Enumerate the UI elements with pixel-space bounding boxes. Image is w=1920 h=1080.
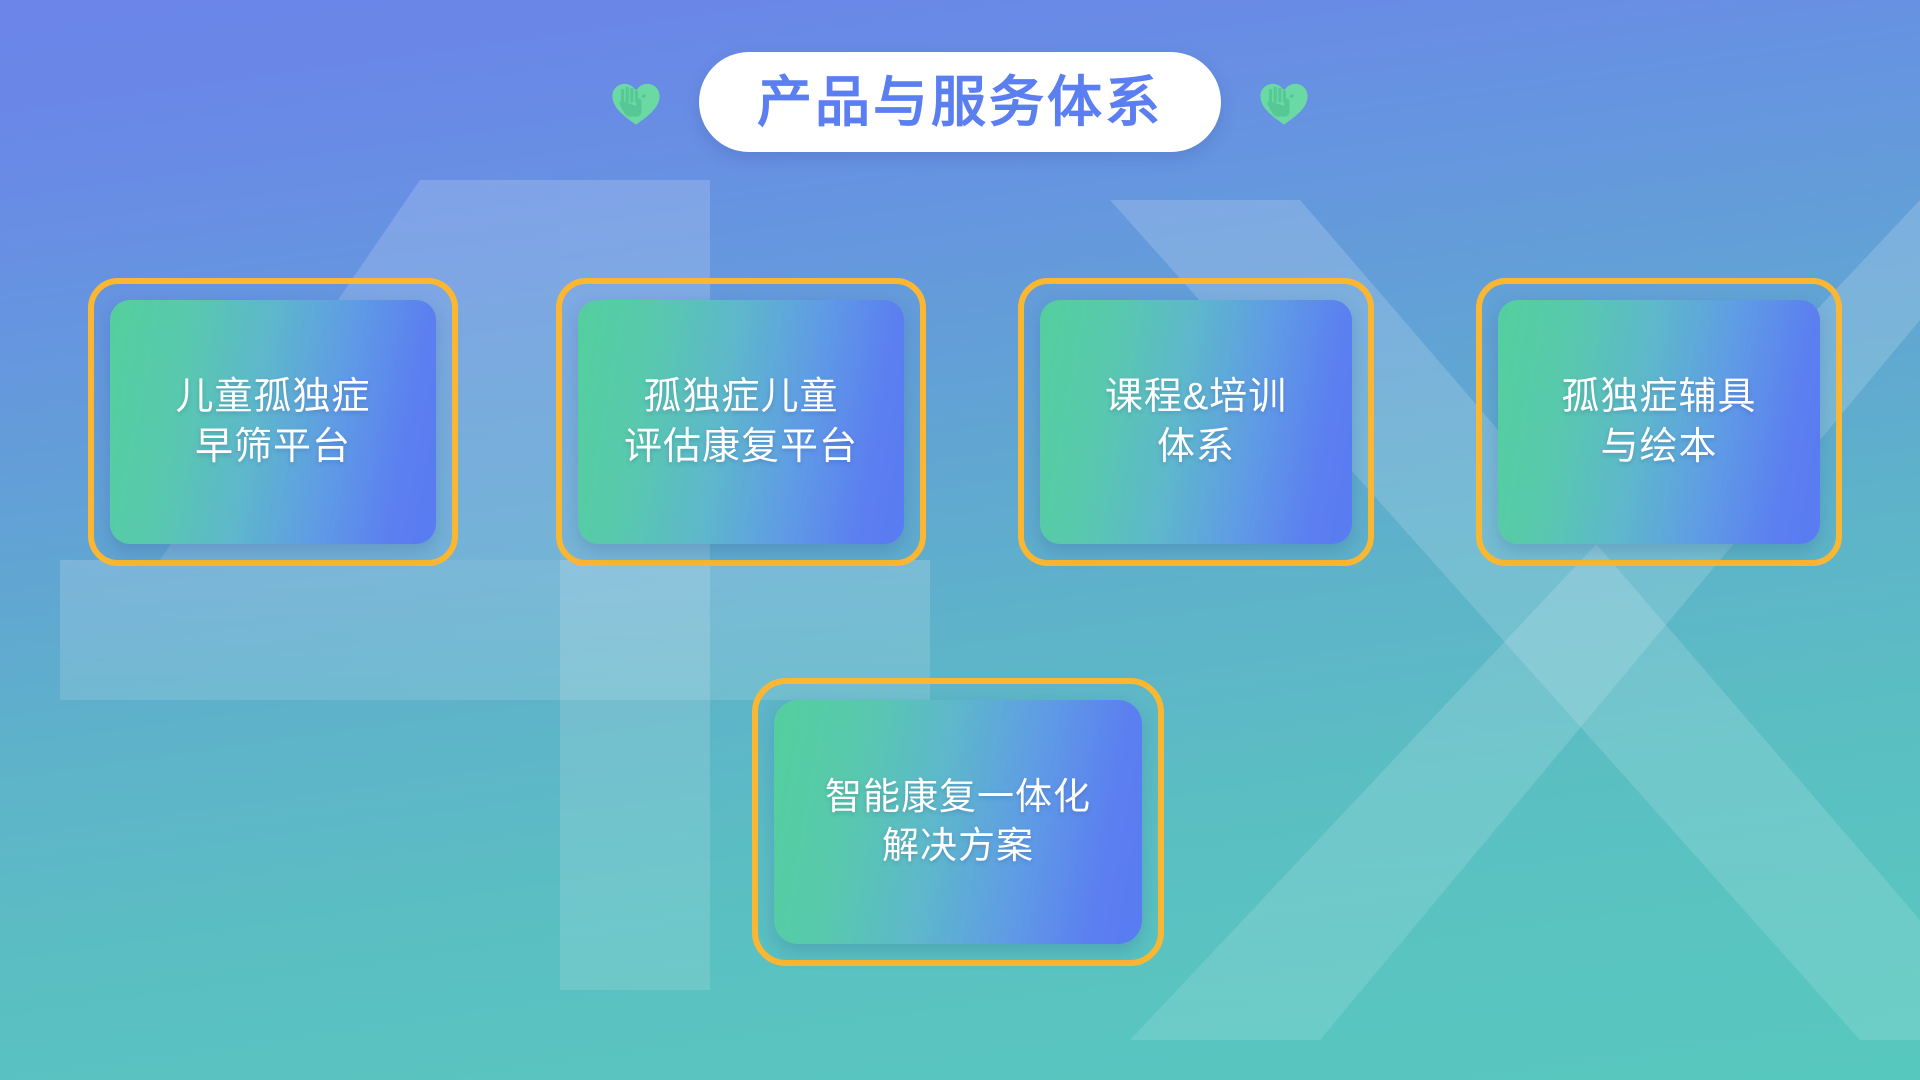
hand-heart-icon-right <box>1255 73 1313 131</box>
card-inner: 智能康复一体化 解决方案 <box>774 700 1142 944</box>
header: 产品与服务体系 <box>0 52 1920 152</box>
card-inner: 孤独症儿童 评估康复平台 <box>578 300 904 544</box>
card-early-screening-platform[interactable]: 儿童孤独症 早筛平台 <box>88 278 458 566</box>
card-course-training-system[interactable]: 课程&培训 体系 <box>1018 278 1374 566</box>
card-integrated-rehab-solution[interactable]: 智能康复一体化 解决方案 <box>752 678 1164 966</box>
title-pill: 产品与服务体系 <box>699 52 1221 152</box>
card-label: 智能康复一体化 解决方案 <box>819 773 1097 871</box>
slide-canvas: 产品与服务体系 儿童孤独症 早筛平台 孤独症儿童 评估康复平台 <box>0 0 1920 1080</box>
card-assessment-rehab-platform[interactable]: 孤独症儿童 评估康复平台 <box>556 278 926 566</box>
card-assistive-devices-picturebooks[interactable]: 孤独症辅具 与绘本 <box>1476 278 1842 566</box>
page-title: 产品与服务体系 <box>757 75 1163 130</box>
card-inner: 孤独症辅具 与绘本 <box>1498 300 1820 544</box>
card-label: 儿童孤独症 早筛平台 <box>169 372 376 472</box>
card-inner: 儿童孤独症 早筛平台 <box>110 300 436 544</box>
hand-heart-icon-left <box>607 73 665 131</box>
card-inner: 课程&培训 体系 <box>1040 300 1352 544</box>
card-label: 孤独症儿童 评估康复平台 <box>618 372 864 472</box>
card-label: 孤独症辅具 与绘本 <box>1555 372 1762 472</box>
card-label: 课程&培训 体系 <box>1099 372 1293 472</box>
